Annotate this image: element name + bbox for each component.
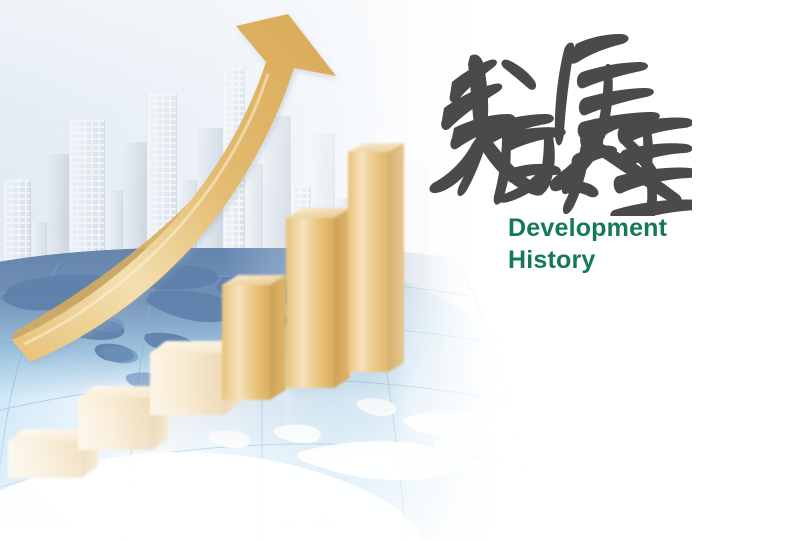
calligraphy-strokes-row2 [457, 114, 692, 216]
arrow-thickness [12, 58, 282, 340]
title-block: Development History [424, 16, 724, 216]
english-title: Development History [508, 212, 667, 276]
development-history-banner: Development History [0, 0, 800, 540]
arrow-highlight [24, 74, 268, 344]
chinese-calligraphy-fazhanlicheng [424, 16, 692, 216]
